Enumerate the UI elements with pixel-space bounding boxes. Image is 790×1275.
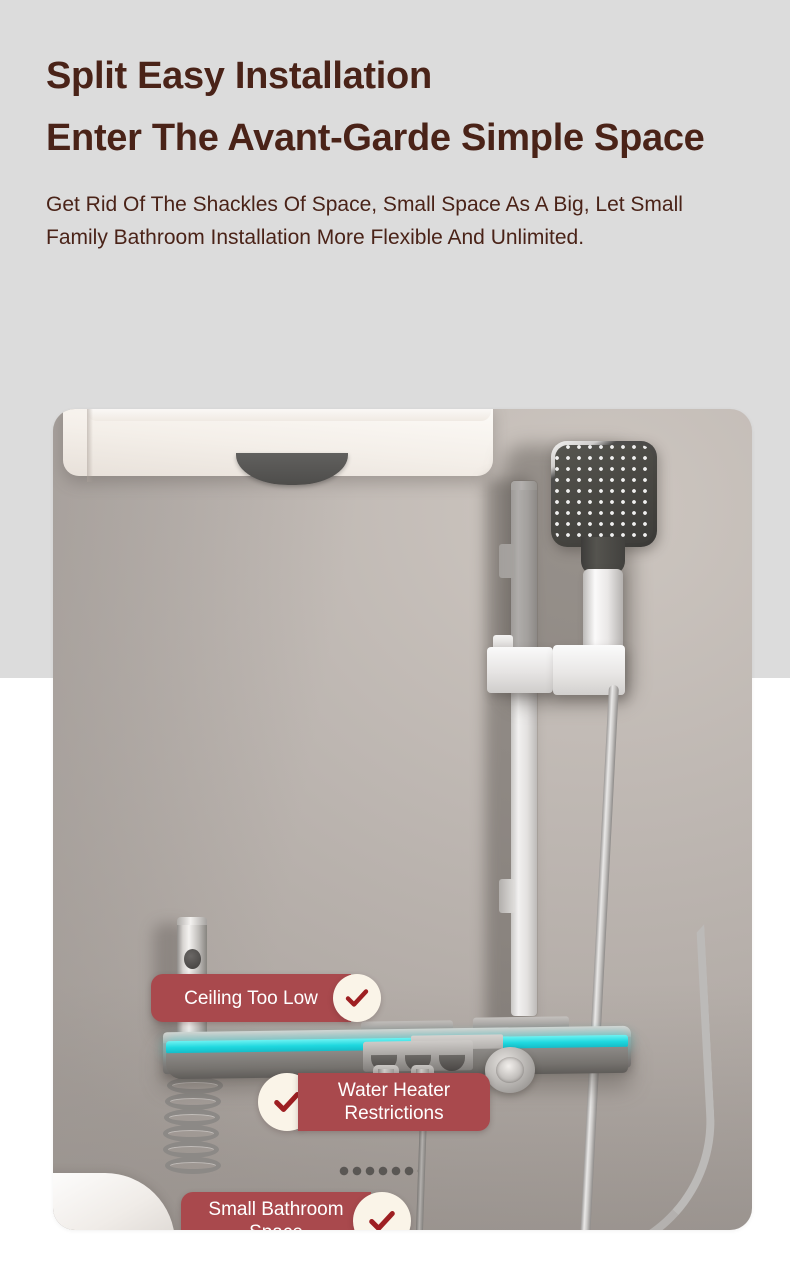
badge-label: Small Bathroom Space: [181, 1192, 371, 1230]
page-description: Get Rid Of The Shackles Of Space, Small …: [46, 188, 736, 254]
coiled-hose-loop: [163, 1125, 219, 1142]
badge-small-bathroom-space: Small Bathroom Space: [181, 1192, 411, 1230]
badge-label: Water Heater Restrictions: [298, 1073, 490, 1131]
page-title-primary: Split Easy Installation: [46, 52, 744, 100]
coiled-hose-loop: [163, 1141, 219, 1158]
product-photo: Ceiling Too Low Water Heater Restriction…: [53, 409, 752, 1230]
drain-grill: [338, 1163, 418, 1179]
vanity-edge: [87, 409, 93, 482]
coiled-hose-loop: [164, 1109, 220, 1126]
rail-bracket-left: [487, 647, 553, 693]
coiled-hose-loop: [165, 1157, 221, 1174]
slide-rail-clip-lower: [499, 879, 515, 913]
shower-head-nozzle-face: [555, 445, 653, 543]
badge-water-heater-restrictions: Water Heater Restrictions: [258, 1073, 490, 1131]
badge-ceiling-too-low: Ceiling Too Low: [151, 974, 381, 1022]
shower-head: [551, 441, 657, 547]
bidet-sprayer-cap: [177, 917, 207, 925]
vanity-lip: [87, 409, 491, 421]
copy-block: Split Easy Installation Enter The Avant-…: [0, 0, 790, 254]
badge-label: Ceiling Too Low: [151, 974, 351, 1022]
check-icon: [333, 974, 381, 1022]
page-title-secondary: Enter The Avant-Garde Simple Space: [46, 114, 726, 162]
bidet-sprayer-button: [184, 949, 201, 969]
coiled-hose-loop: [165, 1093, 221, 1110]
